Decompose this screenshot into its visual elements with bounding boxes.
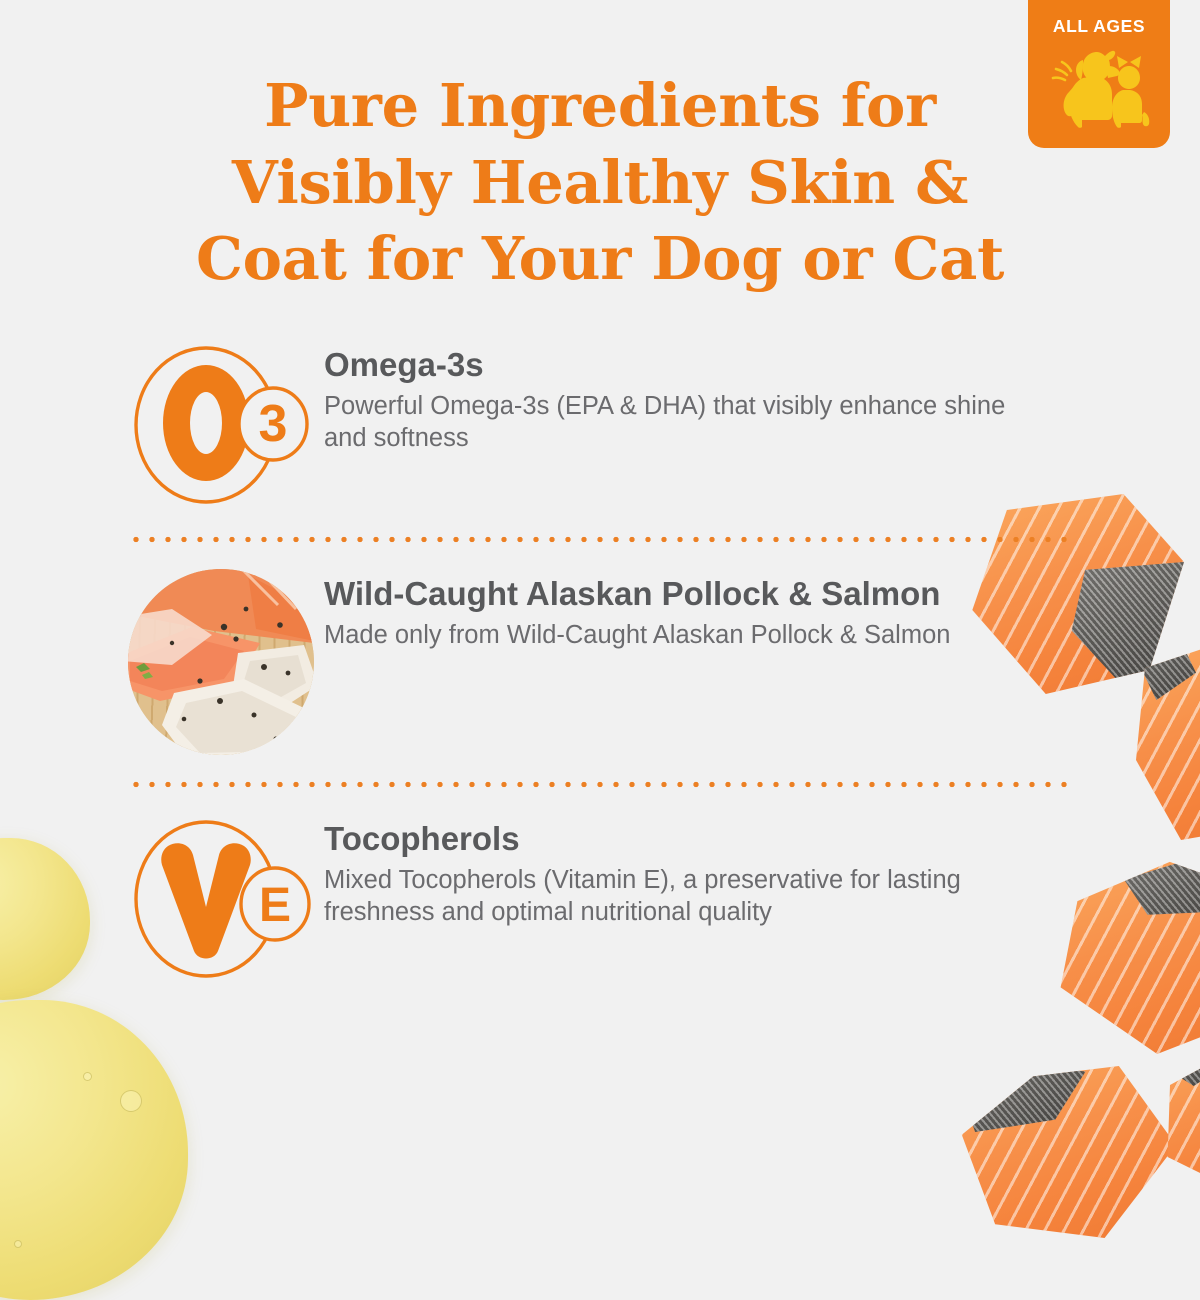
fish-fillets-photo-icon: [128, 569, 314, 755]
feature-icon-wrapper: [128, 569, 324, 755]
feature-title: Omega-3s: [324, 346, 1020, 385]
feature-row-wild-caught: Wild-Caught Alaskan Pollock & Salmon Mad…: [0, 569, 1200, 755]
page-title-line-3: Coat for Your Dog or Cat: [96, 221, 1104, 298]
feature-icon-wrapper: 3: [128, 340, 324, 510]
section-divider: [128, 536, 1070, 543]
feature-icon-wrapper: E: [128, 814, 324, 984]
feature-title: Tocopherols: [324, 820, 1020, 859]
page-title: Pure Ingredients for Visibly Healthy Ski…: [0, 0, 1200, 298]
page-title-line-2: Visibly Healthy Skin &: [96, 145, 1104, 222]
feature-text-wrapper: Tocopherols Mixed Tocopherols (Vitamin E…: [324, 814, 1200, 928]
feature-text-wrapper: Wild-Caught Alaskan Pollock & Salmon Mad…: [324, 569, 1200, 651]
feature-list: 3 Omega-3s Powerful Omega-3s (EPA & DHA)…: [0, 340, 1200, 984]
section-divider: [128, 781, 1070, 788]
feature-row-omega-3s: 3 Omega-3s Powerful Omega-3s (EPA & DHA)…: [0, 340, 1200, 510]
oil-droplet-icon: [0, 1000, 188, 1300]
feature-row-tocopherols: E Tocopherols Mixed Tocopherols (Vitamin…: [0, 814, 1200, 984]
feature-description: Powerful Omega-3s (EPA & DHA) that visib…: [324, 390, 1020, 454]
omega-3-circle-icon: 3: [128, 340, 318, 510]
feature-text-wrapper: Omega-3s Powerful Omega-3s (EPA & DHA) t…: [324, 340, 1200, 454]
all-ages-badge-label: ALL AGES: [1053, 18, 1145, 36]
page-title-line-1: Pure Ingredients for: [96, 68, 1104, 145]
salmon-fillet-icon: [938, 1066, 1176, 1238]
feature-description: Made only from Wild-Caught Alaskan Pollo…: [324, 619, 1020, 651]
svg-text:3: 3: [259, 395, 288, 453]
svg-text:E: E: [259, 879, 291, 932]
all-ages-badge: ALL AGES: [1028, 0, 1170, 148]
vitamin-e-circle-icon: E: [128, 814, 318, 984]
feature-description: Mixed Tocopherols (Vitamin E), a preserv…: [324, 864, 1020, 928]
salmon-fillet-icon: [1158, 1046, 1200, 1196]
dog-and-cat-silhouette-icon: [1045, 42, 1153, 143]
feature-title: Wild-Caught Alaskan Pollock & Salmon: [324, 575, 1020, 614]
